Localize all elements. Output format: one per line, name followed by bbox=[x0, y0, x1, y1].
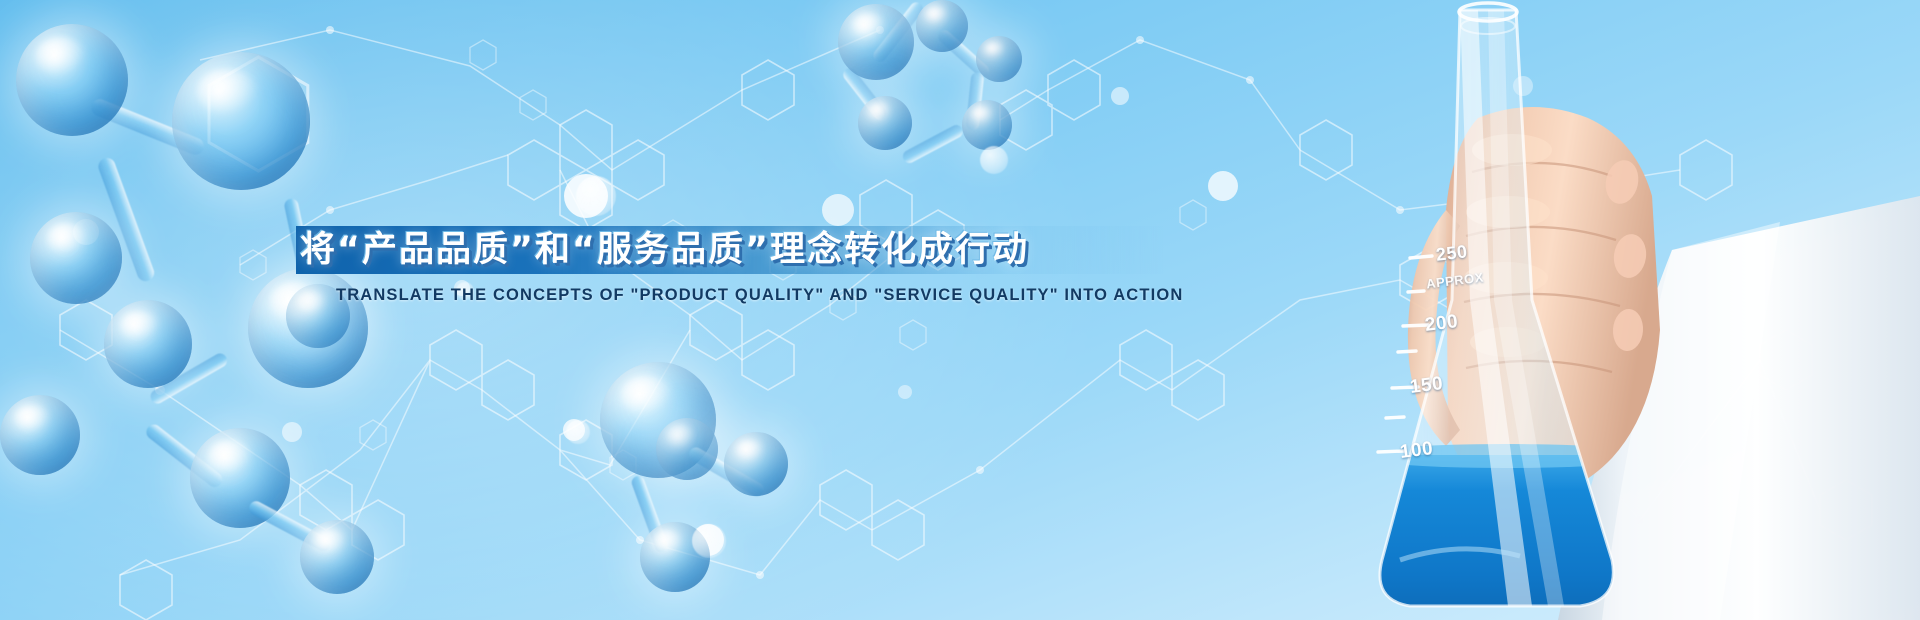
banner-copy: 将“产品品质”和“服务品质”理念转化成行动 TRANSLATE THE CONC… bbox=[0, 0, 1920, 620]
page-subtitle: TRANSLATE THE CONCEPTS OF "PRODUCT QUALI… bbox=[336, 286, 1183, 305]
page-title: 将“产品品质”和“服务品质”理念转化成行动 bbox=[300, 222, 1029, 278]
hero-banner: 250 APPROX 200 150 100 将“产品品质”和“服务品质”理念转… bbox=[0, 0, 1920, 620]
